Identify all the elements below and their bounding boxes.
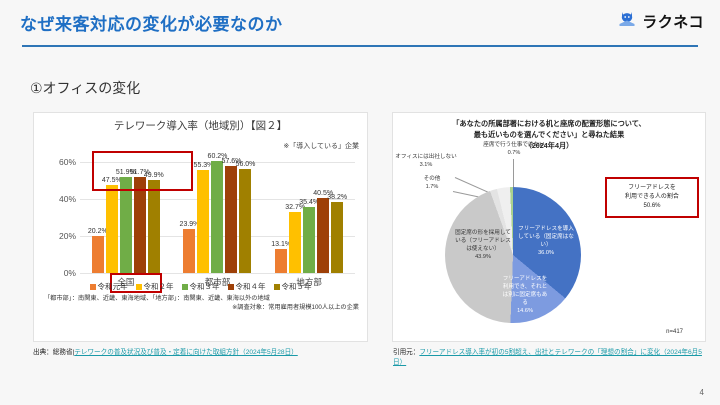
citation-right-link[interactable]: フリーアドレス導入率が初の5割超え、出社とテレワークの「理想の割合」に変化（20… [393,349,702,366]
citation-right: 引用元：フリーアドレス導入率が初の5割超え、出社とテレワークの「理想の割合」に変… [393,348,705,368]
pie-label-other-value: 1.7% [426,184,439,190]
bar-value-label: 35.4% [299,199,319,206]
bar-chart-title: テレワーク導入率（地域別）【図２】 [34,118,367,133]
legend-item[interactable]: 令和２年 [136,281,174,292]
bar[interactable]: 47.5% [106,185,118,273]
bar-value-label: 55.3% [194,162,214,169]
footnote-line-1: 「都市部」：南関東、近畿、東海地域、「地方部」：南関東、近畿、東海以外の地域 [44,295,270,302]
y-axis-tick: 40% [44,194,76,204]
sample-size: n=417 [666,329,683,335]
bar-value-label: 38.2% [327,194,347,201]
pie-label-no-office-text: オフィスには出社しない [395,154,456,160]
legend-label: 令和５年 [282,281,312,292]
pie-label-fixed-seat: 固定席の形を採用している（フリーアドレスは使えない） 43.9% [455,229,511,261]
bar[interactable]: 60.2% [211,161,223,273]
callout-line-1: フリーアドレスを [628,185,676,191]
legend-swatch [274,284,280,290]
pie-label-free-address-text: フリーアドレスを導入している（固定席はない） [518,226,574,248]
bar[interactable]: 55.3% [197,170,209,273]
legend-label: 令和４年 [236,281,266,292]
bar[interactable]: 49.9% [148,180,160,273]
bar-chart-legend: 令和元年令和２年令和３年令和４年令和５年 [34,281,367,292]
footnote-line-2: ※調査対象：常用雇用者規模100人以上の企業 [44,304,359,313]
header-divider [22,45,698,47]
bar[interactable]: 57.6% [225,166,237,273]
bar-chart-footnote: 「都市部」：南関東、近畿、東海地域、「地方部」：南関東、近畿、東海以外の地域 ※… [44,295,359,313]
bar[interactable]: 40.5% [317,198,329,273]
bar[interactable]: 51.7% [134,177,146,273]
legend-label: 令和２年 [144,281,174,292]
pie-label-not-seat-work-text: 座席で行う仕事ではない [483,142,545,148]
leader-line-notseat [513,159,514,187]
pie-graphic: フリーアドレスを導入している（固定席はない） 36.0% フリーアドレスを利用で… [445,187,581,323]
citation-left-prefix: 出典：総務省| [33,349,74,356]
legend-item[interactable]: 令和４年 [228,281,266,292]
legend-label: 令和元年 [98,281,128,292]
bar-chart-panel: テレワーク導入率（地域別）【図２】 ※「導入している」企業 0%20%40%60… [33,112,368,342]
bar[interactable]: 23.9% [183,229,195,273]
slide-header: なぜ来客対応の変化が必要なのか ラクネコ [0,0,720,48]
brand-name: ラクネコ [642,11,704,32]
bar[interactable]: 20.2% [92,236,104,274]
bar-value-label: 13.1% [271,241,291,248]
slide: なぜ来客対応の変化が必要なのか ラクネコ ①オフィスの変化 テレワーク導入率（地… [0,0,720,405]
callout-value: 50.6% [643,203,660,209]
citation-right-prefix: 引用元： [393,349,419,356]
pie-label-other: その他 1.7% [415,175,449,191]
pie-label-fixed-seat-text: 固定席の形を採用している（フリーアドレスは使えない） [455,230,511,252]
legend-swatch [136,284,142,290]
bar-value-label: 56.0% [236,161,256,168]
page-number: 4 [700,388,704,397]
y-axis-tick: 20% [44,231,76,241]
legend-swatch [182,284,188,290]
bar[interactable]: 56.0% [239,169,251,273]
legend-swatch [90,284,96,290]
citation-left-link[interactable]: テレワークの普及状況及び普及・定着に向けた取組方針（2024年5月28日） [74,349,297,356]
legend-item[interactable]: 令和３年 [182,281,220,292]
pie-label-not-seat-work: 座席で行う仕事ではない 0.7% [477,141,551,157]
free-address-callout: フリーアドレスを 利用できる人の割合 50.6% [605,177,699,218]
y-axis-tick: 60% [44,157,76,167]
legend-item[interactable]: 令和元年 [90,281,128,292]
y-axis-tick: 0% [44,268,76,278]
pie-label-not-seat-work-value: 0.7% [508,150,521,156]
pie-title-line-1: 「あなたの所属部署における机と座席の配置形態について、 [407,119,691,130]
citation-left: 出典：総務省|テレワークの普及状況及び普及・定着に向けた取組方針（2024年5月… [33,348,367,358]
bar-value-label: 23.9% [180,221,200,228]
callout-line-2: 利用できる人の割合 [625,194,679,200]
pie-label-free-address: フリーアドレスを導入している（固定席はない） 36.0% [517,225,575,257]
cat-logo-icon [617,9,637,34]
pie-label-free-address-value: 36.0% [538,250,554,256]
pie-label-fixed-seat-value: 43.9% [475,254,491,260]
bar-group: 13.1%32.7%35.4%40.5%38.2% [263,143,355,273]
legend-label: 令和３年 [190,281,220,292]
page-title: なぜ来客対応の変化が必要なのか [20,10,283,35]
pie-label-mixed-value: 14.6% [517,308,533,314]
brand-logo: ラクネコ [617,9,704,34]
bar[interactable]: 38.2% [331,202,343,273]
pie-title-line-2: 最も近いものを選んでください」と尋ねた結果 [407,130,691,141]
pie-label-no-office-value: 3.1% [420,162,433,168]
section-heading: ①オフィスの変化 [30,78,140,98]
pie-chart-panel: 「あなたの所属部署における机と座席の配置形態について、 最も近いものを選んでくだ… [392,112,706,342]
bar[interactable]: 13.1% [275,249,287,273]
pie-label-no-office: オフィスには出社しない 3.1% [395,153,457,169]
bar[interactable]: 35.4% [303,207,315,273]
legend-item[interactable]: 令和５年 [274,281,312,292]
bar[interactable]: 32.7% [289,212,301,273]
legend-swatch [228,284,234,290]
bar[interactable]: 51.9% [120,177,132,273]
bar-value-label: 20.2% [88,228,108,235]
highlight-box-values [92,151,193,191]
pie-label-other-text: その他 [424,176,441,182]
pie-label-mixed: フリーアドレスを利用でき、それとは別に固定席もある 14.6% [501,275,549,316]
pie-label-mixed-text: フリーアドレスを利用でき、それとは別に固定席もある [503,276,548,306]
